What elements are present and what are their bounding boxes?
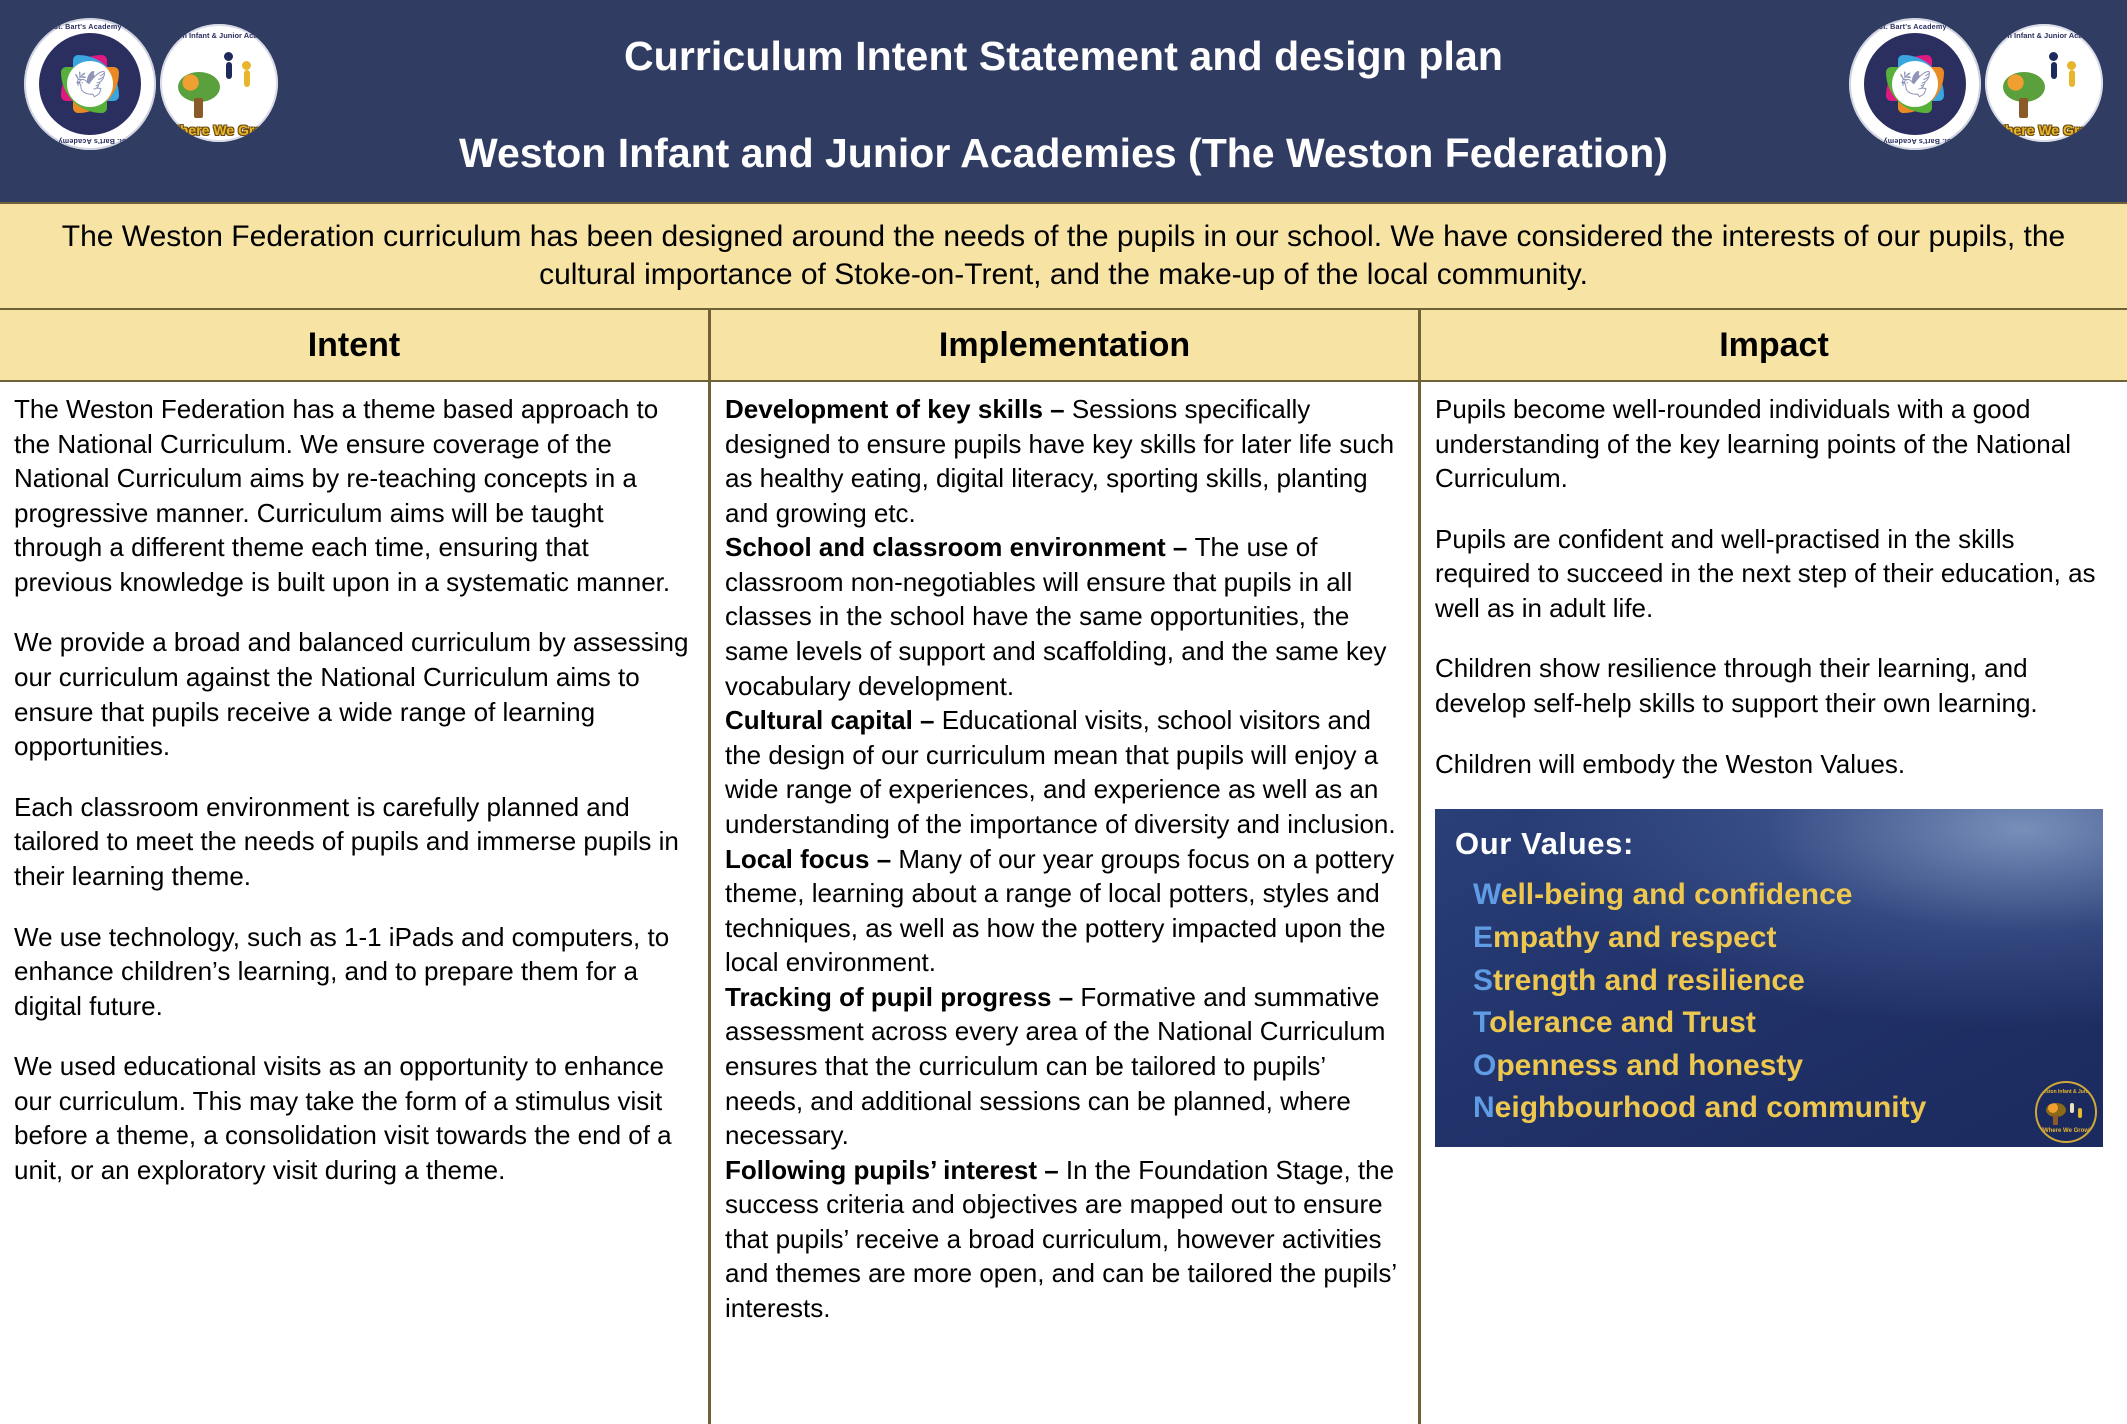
paragraph-lead: Cultural capital – [725,705,942,735]
dove-icon: 🕊 [67,61,113,107]
paragraph: Cultural capital – Educational visits, s… [725,703,1404,841]
weston-infant-junior-academies-logo: Weston Infant & Junior Academies "Where … [1985,24,2103,142]
document-subtitle: Weston Infant and Junior Academies (The … [364,133,1764,174]
school-logo-arc-top: Weston Infant & Junior Academies [1985,31,2103,40]
paragraph: Each classroom environment is carefully … [14,790,694,894]
child-figure-gold [2069,70,2075,87]
value-item: Strength and resilience [1473,960,2103,1003]
tree-icon [178,72,220,118]
trust-logo-arc-bottom: - The St. Bart's Academy Trust - [24,137,156,146]
paragraph: We provide a broad and balanced curricul… [14,625,694,763]
child-figure-head-gold [2067,61,2076,70]
weston-academies-logo-small: Weston Infant & Junior "Where We Grow" [2035,1081,2097,1143]
value-initial: S [1473,964,1493,997]
tree-icon [2003,72,2045,118]
school-logo-motto: "Where We Grow" [160,122,278,138]
tree-trunk [194,98,203,118]
column-intent: Intent The Weston Federation has a theme… [0,310,708,1424]
logo-cluster-left: - The St. Bart's Academy Trust - - The S… [24,18,278,150]
our-values-list: Well-being and confidenceEmpathy and res… [1455,874,2103,1130]
paragraph: Following pupils’ interest – In the Foun… [725,1153,1404,1326]
value-initial: O [1473,1049,1496,1082]
trust-logo-arc-bottom: - The St. Bart's Academy Trust - [1849,137,1981,146]
dove-icon: 🕊 [1892,61,1938,107]
column-header-impact: Impact [1421,310,2127,382]
tree-trunk [2053,1115,2058,1125]
child-figure-light [2070,1103,2074,1113]
paragraph: Local focus – Many of our year groups fo… [725,842,1404,980]
value-initial: W [1473,878,1501,911]
column-implementation: Implementation Development of key skills… [708,310,1421,1424]
paragraph-lead: Development of key skills – [725,394,1072,424]
paragraph: School and classroom environment – The u… [725,530,1404,703]
column-body-impact: Pupils become well-rounded individuals w… [1421,382,2127,1424]
child-figure-navy [2051,62,2057,79]
value-initial: E [1473,921,1493,954]
paragraph: The Weston Federation has a theme based … [14,392,694,599]
value-initial: N [1473,1091,1495,1124]
column-header-intent: Intent [0,310,708,382]
tree-icon [2046,1103,2066,1125]
small-logo-motto: "Where We Grow" [2037,1128,2095,1136]
paragraph-lead: Following pupils’ interest – [725,1155,1066,1185]
child-figure-head-gold [242,61,251,70]
paragraph: We use technology, such as 1-1 iPads and… [14,920,694,1024]
column-header-implementation: Implementation [711,310,1418,382]
paragraph: Tracking of pupil progress – Formative a… [725,980,1404,1153]
school-logo-arc-top: Weston Infant & Junior Academies [160,31,278,40]
column-body-implementation: Development of key skills – Sessions spe… [711,382,1418,1424]
paragraph: Children show resilience through their l… [1435,651,2113,720]
paragraph: Children will embody the Weston Values. [1435,747,2113,782]
value-item: Openness and honesty [1473,1045,2103,1088]
school-logo-motto: "Where We Grow" [1985,122,2103,138]
value-initial: T [1473,1006,1489,1039]
header-titles: Curriculum Intent Statement and design p… [364,28,1764,174]
value-item: Neighbourhood and community [1473,1087,2103,1130]
impact-paragraphs: Pupils become well-rounded individuals w… [1435,392,2113,781]
st-barts-academy-trust-logo: - The St. Bart's Academy Trust - - The S… [24,18,156,150]
paragraph-lead: Tracking of pupil progress – [725,982,1080,1012]
intro-statement-text: The Weston Federation curriculum has bee… [40,218,2087,295]
child-figure-gold [244,70,250,87]
st-barts-academy-trust-logo: - The St. Bart's Academy Trust - - The S… [1849,18,1981,150]
document-header: - The St. Bart's Academy Trust - - The S… [0,0,2127,202]
value-item: Tolerance and Trust [1473,1002,2103,1045]
child-figure-gold [2078,1108,2082,1118]
tree-trunk [2019,98,2028,118]
intro-statement-band: The Weston Federation curriculum has bee… [0,202,2127,310]
column-impact: Impact Pupils become well-rounded indivi… [1421,310,2127,1424]
paragraph: We used educational visits as an opportu… [14,1049,694,1187]
trust-logo-arc-top: - The St. Bart's Academy Trust - [24,22,156,31]
our-values-title: Our Values: [1455,823,2103,864]
paragraph-lead: Local focus – [725,844,898,874]
value-item: Well-being and confidence [1473,874,2103,917]
paragraph: Development of key skills – Sessions spe… [725,392,1404,530]
small-logo-arc: Weston Infant & Junior [2037,1089,2095,1096]
our-values-panel: Our Values: Well-being and confidenceEmp… [1435,809,2103,1147]
weston-infant-junior-academies-logo: Weston Infant & Junior Academies "Where … [160,24,278,142]
document-title: Curriculum Intent Statement and design p… [364,28,1764,133]
curriculum-intent-document: - The St. Bart's Academy Trust - - The S… [0,0,2127,1424]
child-figure-head-navy [224,52,233,61]
trust-logo-arc-top: - The St. Bart's Academy Trust - [1849,22,1981,31]
value-item: Empathy and respect [1473,917,2103,960]
child-figure-head-navy [2049,52,2058,61]
paragraph-lead: School and classroom environment – [725,532,1195,562]
intent-implementation-impact-table: Intent The Weston Federation has a theme… [0,310,2127,1424]
paragraph: Pupils are confident and well-practised … [1435,522,2113,626]
column-body-intent: The Weston Federation has a theme based … [0,382,708,1424]
logo-cluster-right: - The St. Bart's Academy Trust - - The S… [1849,18,2103,150]
child-figure-navy [226,62,232,79]
paragraph: Pupils become well-rounded individuals w… [1435,392,2113,496]
